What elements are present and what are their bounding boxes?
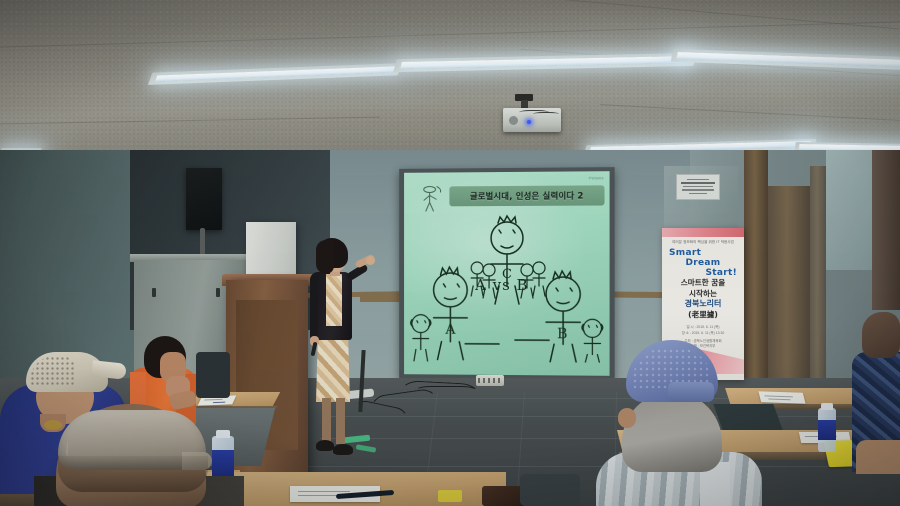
presenter-leg xyxy=(336,398,345,444)
slide-vs-text: A vs B xyxy=(475,276,528,294)
presenter-right-hand xyxy=(366,256,375,265)
banner-korean-line-1: 스마트한 꿈을 xyxy=(662,278,744,288)
slide-title-text: 글로벌시대, 인성은 실력이다 2 xyxy=(470,189,584,202)
banner-text-dream: Dream xyxy=(662,258,744,268)
banner-text-start: Start! xyxy=(662,268,744,278)
attendee-ear xyxy=(618,408,636,428)
slide-title-bar: 글로벌시대, 인성은 실력이다 2 xyxy=(449,185,604,206)
paper-on-table xyxy=(758,391,805,404)
presenter-left-arm xyxy=(310,276,318,338)
yellow-item-on-table xyxy=(438,490,462,502)
cap-brim xyxy=(91,360,126,379)
wood-column xyxy=(810,166,826,400)
cap-strap xyxy=(668,382,714,402)
svg-text:A: A xyxy=(444,322,456,338)
projected-slide: Pictures 글로벌시대, 인성은 실력이다 2 xyxy=(404,171,610,376)
wood-column xyxy=(744,150,768,400)
window-frame xyxy=(872,150,900,310)
chair-back xyxy=(520,474,580,506)
projection-screen: Pictures 글로벌시대, 인성은 실력이다 2 xyxy=(399,167,614,381)
table-leg xyxy=(713,404,782,430)
presenter-hair-side xyxy=(316,240,334,274)
presenter-shoe xyxy=(316,440,334,451)
banner-korean-line-4: (老里攄) xyxy=(662,310,744,320)
cap-panel-texture xyxy=(66,418,196,458)
attendee-head xyxy=(862,312,900,358)
chair-back xyxy=(196,352,230,398)
floor-power-strip xyxy=(476,375,504,386)
banner-footer-2: 장 소 : 2015. 6. 11 (목) 13:30 xyxy=(662,330,744,335)
wall-speaker-left xyxy=(186,168,222,230)
slide-corner-watermark: Pictures xyxy=(589,175,604,180)
banner-top-band xyxy=(662,228,744,237)
wood-wall-panel xyxy=(768,186,810,400)
attendee-hair-back xyxy=(58,456,208,492)
attendee-necklace xyxy=(44,420,62,430)
banner-subheader: 여러분 정보화의 핵심을 위한 IT 적응사업 xyxy=(662,240,744,245)
slide-logo-icon xyxy=(422,182,448,212)
svg-text:B: B xyxy=(557,326,567,342)
presenter-leg xyxy=(322,398,331,444)
power-cable xyxy=(416,386,476,394)
banner-korean-line-2: 시작하는 xyxy=(662,289,744,299)
projector-power-led xyxy=(527,120,531,124)
banner-text-smart: Smart xyxy=(662,248,744,258)
wall-notice xyxy=(676,174,720,200)
lecture-hall-photo: Pictures 글로벌시대, 인성은 실력이다 2 xyxy=(0,0,900,506)
ceiling-projector xyxy=(503,108,561,132)
banner-korean-line-3: 경북노리터 xyxy=(662,299,744,310)
projector-lens xyxy=(509,116,518,125)
presenter-blouse-front xyxy=(326,274,342,326)
presenter-dress xyxy=(316,330,350,402)
presenter-shoe xyxy=(333,444,353,455)
attendee-arm xyxy=(856,440,900,474)
